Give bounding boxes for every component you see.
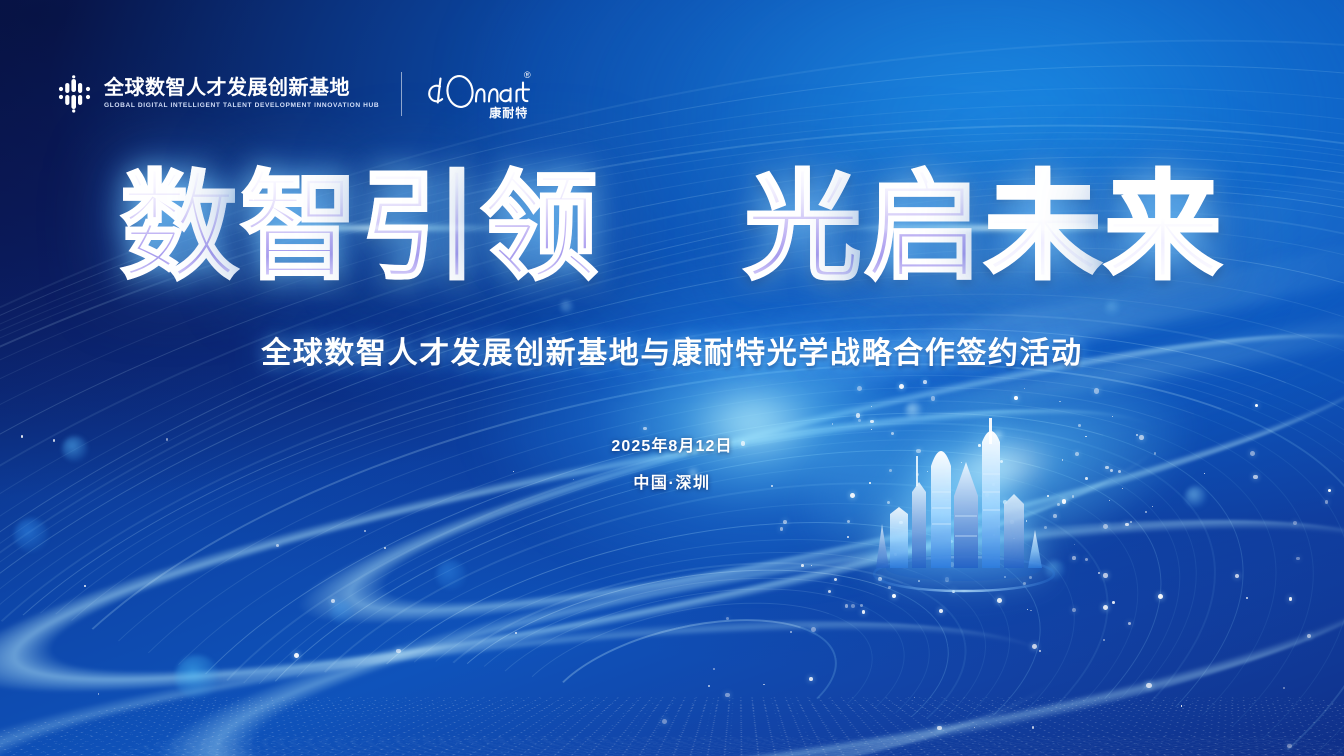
- particle-dot: [1094, 388, 1099, 393]
- bokeh-orb: [1045, 560, 1065, 580]
- particle-dot: [515, 632, 516, 633]
- light-sweep: [0, 352, 1175, 756]
- particle-dot: [1283, 687, 1285, 689]
- particle-dot: [943, 532, 944, 533]
- particle-dot: [1039, 650, 1041, 652]
- particle-dot: [1059, 401, 1061, 403]
- particle-dot: [888, 586, 891, 589]
- particle-dot: [1026, 520, 1028, 522]
- particle-dot: [892, 594, 896, 598]
- particle-dot: [878, 577, 882, 581]
- particle-dot: [851, 604, 855, 608]
- particle-dot: [708, 685, 710, 687]
- particle-dot: [1053, 514, 1057, 518]
- particle-dot: [899, 384, 904, 389]
- particle-dot: [914, 697, 915, 698]
- city-skyline-icon: [846, 396, 1076, 604]
- particle-dot: [276, 544, 279, 547]
- swirl-arc: [166, 358, 1215, 756]
- event-key-visual: 全球数智人才发展创新基地 GLOBAL DIGITAL INTELLIGENT …: [0, 0, 1344, 756]
- particle-dot: [920, 521, 921, 522]
- title-char: 未: [984, 168, 1104, 288]
- particle-dot: [857, 386, 862, 391]
- swirl-arc: [144, 342, 1235, 756]
- particle-dot: [887, 501, 890, 504]
- particle-dot: [1296, 557, 1300, 561]
- bokeh-orb: [1105, 300, 1121, 316]
- brand-bar: 全球数智人才发展创新基地 GLOBAL DIGITAL INTELLIGENT …: [57, 66, 532, 122]
- bokeh-orb: [436, 560, 466, 590]
- swirl-arc: [0, 243, 1344, 756]
- particle-dot: [1078, 424, 1081, 427]
- swirl-arc: [344, 490, 1036, 756]
- title-char: 启: [864, 168, 984, 288]
- subtitle: 全球数智人才发展创新基地与康耐特光学战略合作签约活动: [0, 328, 1344, 372]
- title-char: 引: [360, 168, 480, 288]
- particle-dot: [790, 631, 792, 633]
- swirl-arc: [393, 523, 987, 756]
- particle-dot: [1072, 495, 1074, 497]
- event-meta: 2025年8月12日 中国·深圳: [0, 432, 1344, 493]
- background-particle-specks: [0, 697, 1344, 756]
- particle-dot: [950, 540, 953, 543]
- particle-dot: [1057, 503, 1061, 507]
- particle-dot: [1062, 499, 1067, 504]
- conant-logo: ® 康耐特: [424, 66, 532, 122]
- title-char: 光: [744, 168, 864, 288]
- particle-dot: [850, 493, 855, 498]
- particle-dot: [860, 604, 862, 606]
- particle-dot: [1112, 416, 1113, 417]
- particle-dot: [1027, 609, 1028, 610]
- particle-dot: [1293, 521, 1297, 525]
- particle-dot: [1010, 520, 1014, 524]
- particle-dot: [1032, 644, 1037, 649]
- particle-dot: [1098, 572, 1100, 574]
- particle-dot: [1047, 495, 1049, 497]
- particle-dot: [894, 553, 897, 556]
- particle-dot: [809, 677, 813, 681]
- particle-dot: [1152, 506, 1154, 508]
- particle-dot: [662, 719, 667, 724]
- title-char: 来: [1104, 168, 1224, 288]
- bokeh-orb: [905, 402, 923, 420]
- particle-dot: [923, 380, 927, 384]
- particle-dot: [725, 693, 729, 697]
- particle-dot: [937, 726, 941, 730]
- swirl-arc: [0, 250, 1344, 756]
- particle-dot: [834, 578, 837, 581]
- light-sweep: [0, 578, 1066, 756]
- particle-dot: [950, 562, 955, 567]
- background-core-glow: [473, 258, 1033, 588]
- particle-dot: [364, 530, 366, 532]
- main-title-text: 数智引领 光启未来: [120, 168, 1224, 288]
- swirl-arc: [78, 308, 1302, 756]
- particle-dot: [1029, 576, 1032, 579]
- particle-dot: [643, 427, 646, 430]
- swirl-arc: [412, 533, 969, 756]
- swirl-arc: [0, 232, 1344, 756]
- particle-dot: [828, 590, 831, 593]
- particle-dot: [1032, 726, 1034, 728]
- brand-divider: [401, 72, 402, 116]
- particle-dot: [811, 565, 812, 566]
- hub-name-en: GLOBAL DIGITAL INTELLIGENT TALENT DEVELO…: [104, 102, 379, 111]
- particle-dot: [1181, 705, 1183, 707]
- main-title: 数智引领 光启未来: [0, 168, 1344, 288]
- particle-dot: [726, 617, 729, 620]
- particle-dot: [939, 609, 944, 614]
- particle-dot: [974, 727, 975, 728]
- swirl-arc: [0, 26, 1344, 756]
- particle-dot: [1255, 404, 1258, 407]
- particle-dot: [1146, 683, 1151, 688]
- particle-dot: [294, 653, 299, 658]
- swirl-arc: [432, 543, 948, 756]
- particle-dot: [1072, 608, 1076, 612]
- swirl-arc: [0, 52, 1344, 756]
- particle-dot: [1103, 573, 1107, 577]
- particle-dot: [1145, 511, 1147, 513]
- particle-dot: [847, 536, 849, 538]
- particle-dot: [783, 520, 787, 524]
- particle-dot: [945, 577, 949, 581]
- bokeh-orb: [175, 655, 219, 699]
- title-char: 智: [240, 168, 360, 288]
- particle-dot: [1235, 574, 1239, 578]
- particle-dot: [871, 429, 872, 430]
- hub-brand: 全球数智人才发展创新基地 GLOBAL DIGITAL INTELLIGENT …: [57, 75, 379, 113]
- particle-dot: [331, 599, 335, 603]
- particle-dot: [1287, 744, 1291, 748]
- particle-dot: [1103, 605, 1108, 610]
- particle-dot: [98, 693, 99, 694]
- particle-dot: [1109, 500, 1110, 501]
- particle-dot: [780, 527, 784, 531]
- swirl-arc: [105, 319, 1276, 756]
- particle-dot: [1125, 523, 1129, 527]
- dot-matrix-icon: [57, 75, 93, 113]
- particle-dot: [858, 419, 861, 422]
- swirl-arc: [458, 556, 921, 756]
- particle-dot: [1023, 582, 1026, 585]
- particle-dot: [832, 423, 834, 425]
- title-part-2: 光启未来: [744, 168, 1224, 288]
- particle-dot: [763, 684, 764, 685]
- particle-dot: [847, 520, 850, 523]
- particle-dot: [84, 585, 86, 587]
- particle-dot: [912, 512, 913, 513]
- particle-dot: [1085, 558, 1088, 561]
- particle-dot: [1044, 526, 1047, 529]
- particle-dot: [952, 590, 956, 594]
- swirl-arc: [529, 593, 850, 756]
- swirl-arc: [125, 330, 1254, 756]
- hub-brand-text: 全球数智人才发展创新基地 GLOBAL DIGITAL INTELLIGENT …: [104, 77, 379, 111]
- particle-dot: [384, 547, 386, 549]
- particle-dot: [1246, 597, 1248, 599]
- title-part-1: 数智引领: [120, 168, 600, 288]
- particle-dot: [1130, 521, 1133, 524]
- particle-dot: [713, 668, 715, 670]
- particle-dot: [1024, 388, 1025, 389]
- particle-dot: [811, 627, 816, 632]
- conant-name-cn: 康耐特: [489, 104, 528, 121]
- particle-dot: [801, 564, 804, 567]
- particle-dot: [1013, 538, 1014, 539]
- particle-dot: [856, 413, 861, 418]
- particle-dot: [1158, 594, 1163, 599]
- particle-dot: [899, 521, 903, 525]
- particle-dot: [871, 406, 873, 408]
- particle-dot: [1103, 639, 1105, 641]
- particle-dot: [1128, 622, 1132, 626]
- hub-name-cn: 全球数智人才发展创新基地: [104, 77, 379, 99]
- particle-dot: [1307, 634, 1311, 638]
- svg-text:®: ®: [524, 70, 531, 80]
- particle-dot: [870, 420, 873, 423]
- particle-dot: [1103, 524, 1108, 529]
- particle-dot: [993, 534, 995, 536]
- bokeh-orb: [330, 600, 354, 624]
- event-location: 中国·深圳: [0, 469, 1344, 493]
- background-particle-stripes: [0, 737, 1344, 756]
- particle-dot: [985, 493, 990, 498]
- particle-dot: [1030, 610, 1031, 611]
- particle-dot: [1112, 601, 1115, 604]
- particle-dot: [1325, 500, 1328, 503]
- particle-dot: [862, 610, 866, 614]
- swirl-arc: [491, 573, 888, 756]
- particle-dot: [1004, 576, 1006, 578]
- particle-dot: [1003, 500, 1007, 504]
- event-date: 2025年8月12日: [0, 432, 1344, 456]
- bokeh-orb: [14, 518, 48, 552]
- particle-dot: [1014, 396, 1018, 400]
- particle-dot: [931, 396, 935, 400]
- particle-dot: [396, 649, 401, 654]
- swirl-arc: [372, 509, 1008, 756]
- title-char: 领: [480, 168, 600, 288]
- particle-dot: [1072, 556, 1076, 560]
- particle-dot: [845, 604, 849, 608]
- particle-dot: [998, 525, 1000, 527]
- particle-dot: [1074, 544, 1075, 545]
- swirl-arc: [309, 466, 1072, 756]
- particle-dot: [918, 580, 920, 582]
- particle-dot: [997, 598, 1002, 603]
- title-char: 数: [120, 168, 240, 288]
- bokeh-orb: [560, 300, 574, 314]
- light-sweep: [112, 460, 1344, 756]
- particle-dot: [1289, 597, 1292, 600]
